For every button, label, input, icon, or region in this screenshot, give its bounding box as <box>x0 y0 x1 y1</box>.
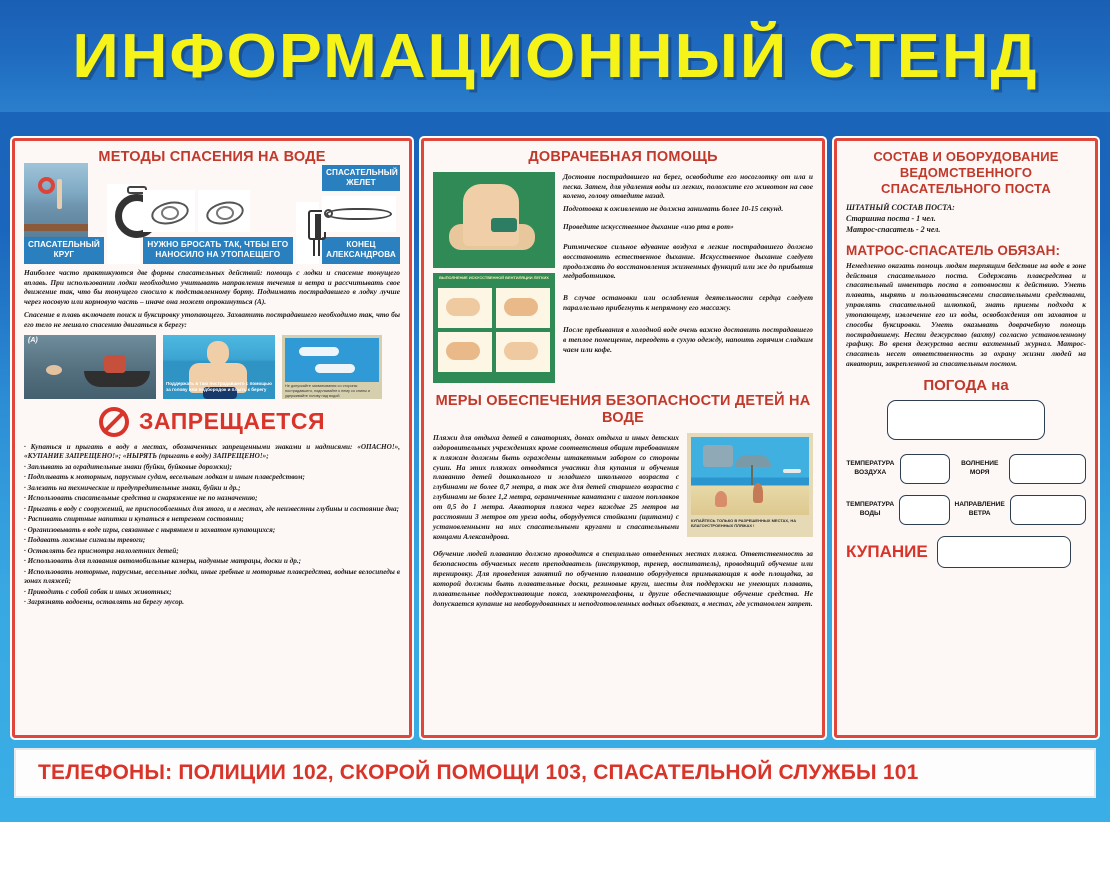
list-item: Подплывать к моторным, парусным судам, в… <box>24 473 400 483</box>
wind-direction-label: НАПРАВЛЕНИЕ ВЕТРА <box>955 501 1005 518</box>
cpr-illustrations: ВЫПОЛНЕНИЕ ИСКУССТВЕННОЙ ВЕНТИЛЯЦИИ ЛЕГК… <box>433 172 555 383</box>
list-item: Оставлять без присмотра малолетних детей… <box>24 547 400 557</box>
first-aid-paragraph-1: Достовив пострадавшего на берег, освобод… <box>563 172 813 202</box>
prohibition-rules-list: Купаться и прыгать в воду в местах, обоз… <box>24 443 400 608</box>
swimming-training-text: Обучение людей плаванию должно проводитс… <box>433 549 813 608</box>
panels-row: МЕТОДЫ СПАСЕНИЯ НА ВОДЕ СПАСАТЕЛЬНЫЙ КРУ… <box>12 138 1098 738</box>
page-title: ИНФОРМАЦИОННЫЙ СТЕНД <box>72 21 1038 92</box>
list-item: Залезать на технические и предупредитель… <box>24 484 400 494</box>
list-item: Подавать ложные сигналы тревоги; <box>24 536 400 546</box>
beach-illustration-card: КУПАЙТЕСЬ ТОЛЬКО В РАЗРЕШЕННЫХ МЕСТАХ, Н… <box>687 433 813 537</box>
cpr-step-2 <box>496 288 550 328</box>
boat-shape <box>84 371 150 387</box>
cpr-step-3 <box>438 332 492 372</box>
list-item: Загрязнять водоемы, оставлять на берегу … <box>24 598 400 608</box>
list-item: Прыгать в воду с сооружений, не приспосо… <box>24 505 400 515</box>
weather-row-2: ТЕМПЕРАТУРА ВОДЫ НАПРАВЛЕНИЕ ВЕТРА <box>846 495 1086 525</box>
list-item: Использовать спасательные средства и сна… <box>24 494 400 504</box>
rescue-equipment-graphics: СПАСАТЕЛЬНЫЙ КРУГ НУЖНО БРОСАТЬ ТАК, ЧТБ… <box>24 172 400 264</box>
list-item: Приводить с собой собак и иных животных; <box>24 588 400 598</box>
approach-caption: Не допускайте захватывания со стороны по… <box>285 384 379 399</box>
alexandrov-rope-shape <box>326 208 392 220</box>
emergency-phones-bar: ТЕЛЕФОНЫ: ПОЛИЦИИ 102, СКОРОЙ ПОМОЩИ 103… <box>14 748 1096 798</box>
swimmer-shape-1 <box>299 347 339 356</box>
lifebuoy-diagram-icon <box>107 184 140 264</box>
cpr-step-4 <box>496 332 550 372</box>
label-life-vest: СПАСАТЕЛЬНЫЙ ЖЕЛЕТ <box>322 165 400 192</box>
weather-date-input[interactable] <box>887 400 1045 440</box>
first-aid-paragraph-5: В случае остановки или ослабления деятел… <box>563 293 813 313</box>
label-lifebuoy: СПАСАТЕЛЬНЫЙ КРУГ <box>24 237 104 264</box>
rescuer-shorts-shape <box>491 218 517 232</box>
sea-state-label: ВОЛНЕНИЕ МОРЯ <box>955 460 1004 477</box>
beach-illustration <box>691 437 809 515</box>
prohibited-heading: ЗАПРЕЩАЕТСЯ <box>24 407 400 437</box>
no-entry-icon <box>99 407 129 437</box>
first-aid-paragraph-3: Проведите искусственное дыхание «изо рта… <box>563 222 813 232</box>
cpr-figure-shape <box>446 342 480 360</box>
wind-direction-input[interactable] <box>1010 495 1086 525</box>
approach-from-behind-illustration: Не допускайте захватывания со стороны по… <box>282 335 382 399</box>
cpr-figure-shape <box>446 298 480 316</box>
beach-person-1 <box>715 491 727 507</box>
cpr-step-grid <box>438 288 550 372</box>
boat-rescue-photo: (А) <box>24 335 156 399</box>
artificial-ventilation-illustration: ВЫПОЛНЕНИЕ ИСКУССТВЕННОЙ ВЕНТИЛЯЦИИ ЛЕГК… <box>433 273 555 383</box>
staff-heading: ШТАТНЫЙ СОСТАВ ПОСТА: <box>846 202 1086 213</box>
panel-first-aid: ДОВРАЧЕБНАЯ ПОМОЩЬ ВЫПОЛНЕНИЕ ИСКУССТВЕН… <box>421 138 825 738</box>
lifeguard-duties-text: Немедленно оказать помощь людям терпящим… <box>846 261 1086 369</box>
sea-state-input[interactable] <box>1009 454 1086 484</box>
label-throw-technique: НУЖНО БРОСАТЬ ТАК, ЧТБЫ ЕГО НАНОСИЛО НА … <box>143 237 294 264</box>
cpr-figure-shape <box>504 342 538 360</box>
lifebuoy-photo <box>24 163 88 237</box>
first-aid-top-row: ВЫПОЛНЕНИЕ ИСКУССТВЕННОЙ ВЕНТИЛЯЦИИ ЛЕГК… <box>433 172 813 383</box>
water-background-shape <box>285 338 379 382</box>
umbrella-pole-shape <box>751 465 753 485</box>
rescue-photo-strip: (А) Поддержать в таю пострадавшего с пом… <box>24 335 400 401</box>
tow-grip-illustration: Поддержать в таю пострадавшего с помощью… <box>163 335 275 399</box>
label-alexandrov-line: КОНЕЦ АЛЕКСАНДРОВА <box>322 237 400 264</box>
water-temperature-label: ТЕМПЕРАТУРА ВОДЫ <box>846 501 894 518</box>
throw-technique-icon <box>143 190 195 232</box>
prohibited-title: ЗАПРЕЩАЕТСЯ <box>139 408 325 435</box>
panel-right-title: СОСТАВ И ОБОРУДОВАНИЕ ВЕДОМСТВЕННОГО СПА… <box>846 149 1086 197</box>
air-temperature-input[interactable] <box>900 454 951 484</box>
staff-line-foreman: Старшина поста - 1 чел. <box>846 213 1086 224</box>
children-safety-row: Пляжи для отдыха детей в санаториях, дом… <box>433 433 813 541</box>
stand-title-band: ИНФОРМАЦИОННЫЙ СТЕНД <box>0 0 1110 112</box>
alexandrov-line-icon <box>322 196 396 232</box>
life-ring-icon <box>38 177 55 194</box>
distant-boat-shape <box>783 469 801 473</box>
list-item: Купаться и прыгать в воду в местах, обоз… <box>24 443 400 462</box>
vest-legs-shape <box>313 240 320 256</box>
panel-mid-title: ДОВРАЧЕБНАЯ ПОМОЩЬ <box>433 149 813 167</box>
cpr-figure-shape <box>504 298 538 316</box>
list-item: Организовывать в воде игры, связанные с … <box>24 526 400 536</box>
weather-row-1: ТЕМПЕРАТУРА ВОЗДУХА ВОЛНЕНИЕ МОРЯ <box>846 454 1086 484</box>
list-item: Распивать спиртные напитки и купаться в … <box>24 515 400 525</box>
bathing-status-input[interactable] <box>937 536 1071 568</box>
rescue-intro-text: Наиболее часто практикуются две формы сп… <box>24 268 400 330</box>
children-safety-title: МЕРЫ ОБЕСПЕЧЕНИЯ БЕЗОПАСНОСТИ ДЕТЕЙ НА В… <box>433 393 813 428</box>
staff-composition: ШТАТНЫЙ СОСТАВ ПОСТА: Старшина поста - 1… <box>846 202 1086 236</box>
rescue-intro-paragraph-1: Наиболее часто практикуются две формы сп… <box>24 268 400 307</box>
photo-a-label: (А) <box>28 337 38 344</box>
information-stand: ИНФОРМАЦИОННЫЙ СТЕНД МЕТОДЫ СПАСЕНИЯ НА … <box>0 0 1110 879</box>
person-figure <box>57 179 62 209</box>
bathing-label: КУПАНИЕ <box>846 542 928 562</box>
water-expulsion-illustration <box>433 172 555 268</box>
list-item: Использовать для плавания автомобильные … <box>24 557 400 567</box>
weather-title: ПОГОДА на <box>846 377 1086 394</box>
beach-pavilion-shape <box>703 445 733 467</box>
list-item: Использовать моторные, парусные, весельн… <box>24 568 400 587</box>
first-aid-paragraph-2: Подготовка к оживлению не должна занимат… <box>563 204 813 214</box>
victim-head-shape <box>207 341 229 365</box>
tow-grip-caption: Поддержать в таю пострадавшего с помощью… <box>166 381 272 392</box>
panel-rescue-methods: МЕТОДЫ СПАСЕНИЯ НА ВОДЕ СПАСАТЕЛЬНЫЙ КРУ… <box>12 138 412 738</box>
first-aid-paragraph-6: После пребывания в холодной воде очень в… <box>563 325 813 355</box>
dock-shape <box>24 224 88 231</box>
air-temperature-label: ТЕМПЕРАТУРА ВОЗДУХА <box>846 460 895 477</box>
rescue-swimmer-icon <box>198 190 250 232</box>
swimmer-shape-2 <box>315 364 355 373</box>
first-aid-paragraph-4: Ритмическое сильное вдувание воздуха в л… <box>563 242 813 281</box>
staff-line-lifeguard: Матрос-спасатель - 2 чел. <box>846 224 1086 235</box>
water-temperature-input[interactable] <box>899 495 949 525</box>
rescue-intro-paragraph-2: Спасение в плавь включает поиск и буксир… <box>24 310 400 330</box>
first-aid-text: Достовив пострадавшего на берег, освобод… <box>563 172 813 383</box>
children-safety-text: Пляжи для отдыха детей в санаториях, дом… <box>433 433 679 541</box>
bathing-status-row: КУПАНИЕ <box>846 536 1086 568</box>
beach-illustration-caption: КУПАЙТЕСЬ ТОЛЬКО В РАЗРЕШЕННЫХ МЕСТАХ, Н… <box>691 518 809 528</box>
life-vest-icon <box>296 202 319 264</box>
cpr-step-1 <box>438 288 492 328</box>
victim-figure <box>46 365 62 375</box>
beach-person-2 <box>753 483 763 503</box>
emergency-phones-text: ТЕЛЕФОНЫ: ПОЛИЦИИ 102, СКОРОЙ ПОМОЩИ 103… <box>16 761 919 785</box>
beach-umbrella-shape <box>735 455 771 467</box>
list-item: Заплывать за оградительные знаки (буйки,… <box>24 463 400 473</box>
rescuer-figure <box>104 355 126 373</box>
lifeguard-duties-title: МАТРОС-СПАСАТЕЛЬ ОБЯЗАН: <box>846 243 1086 258</box>
rescuer-kneeling-shape <box>463 184 519 246</box>
cpr-illustration-caption: ВЫПОЛНЕНИЕ ИСКУССТВЕННОЙ ВЕНТИЛЯЦИИ ЛЕГК… <box>433 275 555 280</box>
panel-rescue-post: СОСТАВ И ОБОРУДОВАНИЕ ВЕДОМСТВЕННОГО СПА… <box>834 138 1098 738</box>
